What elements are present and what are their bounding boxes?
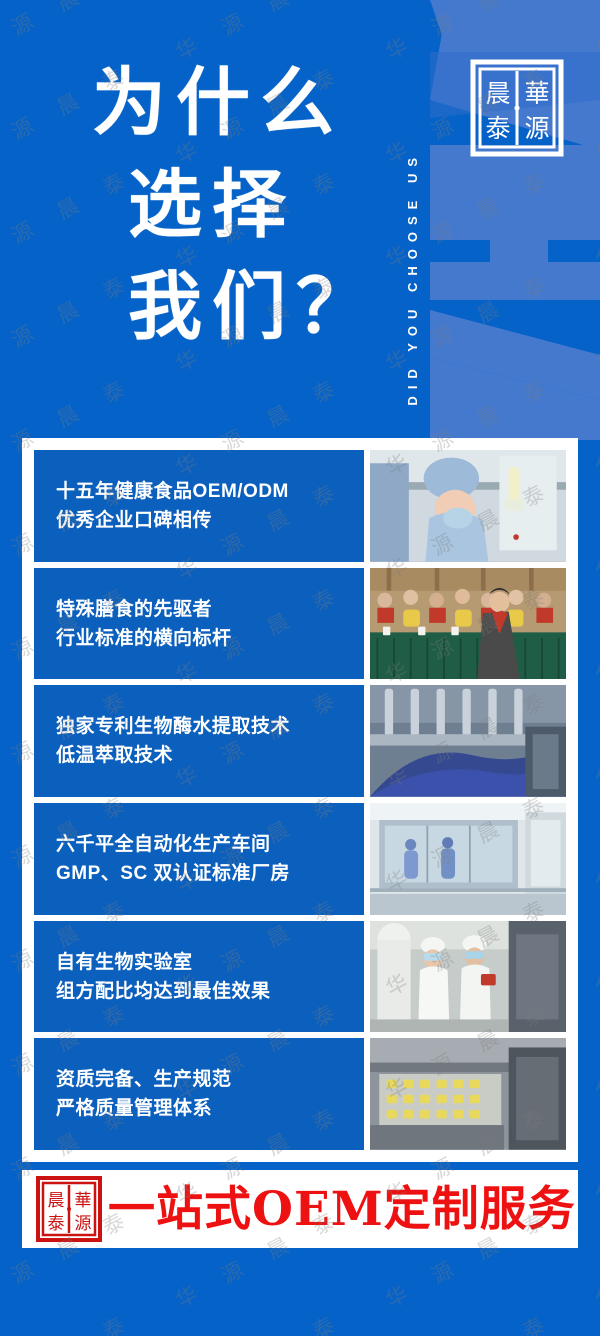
feature-panel: 十五年健康食品OEM/ODM 优秀企业口碑相传 <box>22 438 578 1162</box>
headline-line-2: 选择 <box>128 154 380 256</box>
banner-seal-char-top-left: 晨 <box>48 1191 65 1211</box>
feature-line-2: GMP、SC 双认证标准厂房 <box>56 859 364 888</box>
feature-line-1: 六千平全自动化生产车间 <box>56 830 364 859</box>
watermark-text: 华 源 晨 泰 <box>170 1304 350 1336</box>
feature-line-1: 十五年健康食品OEM/ODM <box>56 477 364 506</box>
banner-seal-char-top-right: 華 <box>75 1191 92 1211</box>
feature-text-block: 特殊膳食的先驱者 行业标准的横向标杆 <box>34 568 364 680</box>
feature-line-2: 严格质量管理体系 <box>56 1094 364 1123</box>
feature-text-block: 自有生物实验室 组方配比均达到最佳效果 <box>34 921 364 1033</box>
headline: 为什么 选择 我们？ <box>92 52 380 358</box>
feature-text-block: 独家专利生物酶水提取技术 低温萃取技术 <box>34 685 364 797</box>
watermark-text: 华 源 晨 泰 <box>590 576 600 691</box>
feature-photo-filling-machine-production-line <box>370 685 566 797</box>
banner-seal-char-bottom-left: 泰 <box>48 1214 65 1234</box>
seal-char-top-right: 華 <box>524 79 549 108</box>
brand-seal-icon: 晨 泰 華 源 <box>470 58 564 158</box>
watermark-text: 华 源 晨 泰 <box>590 0 600 66</box>
brand-seal-red-icon: 晨 泰 華 源 <box>36 1176 102 1242</box>
feature-photo-lab-technician-inspecting-sample <box>370 450 566 562</box>
watermark-text: 华 源 晨 泰 <box>590 680 600 795</box>
watermark-text: 华 源 晨 泰 <box>590 264 600 379</box>
banner-seal-char-bottom-right: 源 <box>75 1214 92 1234</box>
seal-char-bottom-left: 泰 <box>485 114 510 143</box>
feature-row: 六千平全自动化生产车间 GMP、SC 双认证标准厂房 <box>34 803 566 915</box>
feature-text-block: 六千平全自动化生产车间 GMP、SC 双认证标准厂房 <box>34 803 364 915</box>
feature-rows: 十五年健康食品OEM/ODM 优秀企业口碑相传 <box>34 450 566 1150</box>
feature-line-2: 行业标准的横向标杆 <box>56 624 364 653</box>
feature-row: 特殊膳食的先驱者 行业标准的横向标杆 <box>34 568 566 680</box>
watermark-text: 华 源 晨 泰 <box>590 888 600 1003</box>
feature-photo-capsule-blister-packing-machine <box>370 1038 566 1150</box>
bottom-banner: 晨 泰 華 源 一站式OEM定制服务 <box>22 1170 578 1248</box>
watermark-text: 华 源 晨 泰 <box>590 472 600 587</box>
feature-row: 资质完备、生产规范 严格质量管理体系 <box>34 1038 566 1150</box>
feature-row: 十五年健康食品OEM/ODM 优秀企业口碑相传 <box>34 450 566 562</box>
seal-char-bottom-right: 源 <box>524 114 549 143</box>
watermark-text: 华 源 晨 泰 <box>590 1200 600 1315</box>
feature-line-1: 独家专利生物酶水提取技术 <box>56 712 364 741</box>
feature-photo-conference-audience-hall <box>370 568 566 680</box>
watermark-text: 华 源 晨 泰 <box>590 784 600 899</box>
seal-char-top-left: 晨 <box>485 79 510 108</box>
feature-line-2: 组方配比均达到最佳效果 <box>56 977 364 1006</box>
watermark-text: 华 源 晨 泰 <box>590 1304 600 1336</box>
banner-slogan: 一站式OEM定制服务 <box>108 1186 576 1233</box>
feature-photo-clean-room-workshop-corridor <box>370 803 566 915</box>
vertical-caption-text: DID YOU CHOOSE US <box>405 151 420 406</box>
headline-line-3: 我们？ <box>128 256 380 358</box>
feature-line-1: 资质完备、生产规范 <box>56 1065 364 1094</box>
feature-row: 自有生物实验室 组方配比均达到最佳效果 <box>34 921 566 1033</box>
poster-root: 为什么 选择 我们？ DID YOU CHOOSE US 晨 泰 華 源 十五年… <box>0 0 600 1336</box>
watermark-text: 华 源 晨 泰 <box>0 1304 140 1336</box>
watermark-text: 华 源 晨 泰 <box>590 992 600 1107</box>
watermark-text: 华 源 晨 泰 <box>590 56 600 171</box>
feature-line-2: 低温萃取技术 <box>56 741 364 770</box>
feature-line-1: 特殊膳食的先驱者 <box>56 595 364 624</box>
feature-line-2: 优秀企业口碑相传 <box>56 506 364 535</box>
headline-line-1: 为什么 <box>92 52 380 154</box>
feature-row: 独家专利生物酶水提取技术 低温萃取技术 <box>34 685 566 797</box>
watermark-text: 华 源 晨 泰 <box>590 160 600 275</box>
feature-line-1: 自有生物实验室 <box>56 948 364 977</box>
watermark-text: 华 源 晨 泰 <box>590 1096 600 1211</box>
feature-text-block: 资质完备、生产规范 严格质量管理体系 <box>34 1038 364 1150</box>
watermark-text: 华 源 晨 泰 <box>380 1304 560 1336</box>
watermark-text: 华 源 晨 泰 <box>590 368 600 483</box>
vertical-caption: DID YOU CHOOSE US <box>399 14 425 406</box>
feature-text-block: 十五年健康食品OEM/ODM 优秀企业口碑相传 <box>34 450 364 562</box>
feature-photo-lab-staff-in-white-coats <box>370 921 566 1033</box>
